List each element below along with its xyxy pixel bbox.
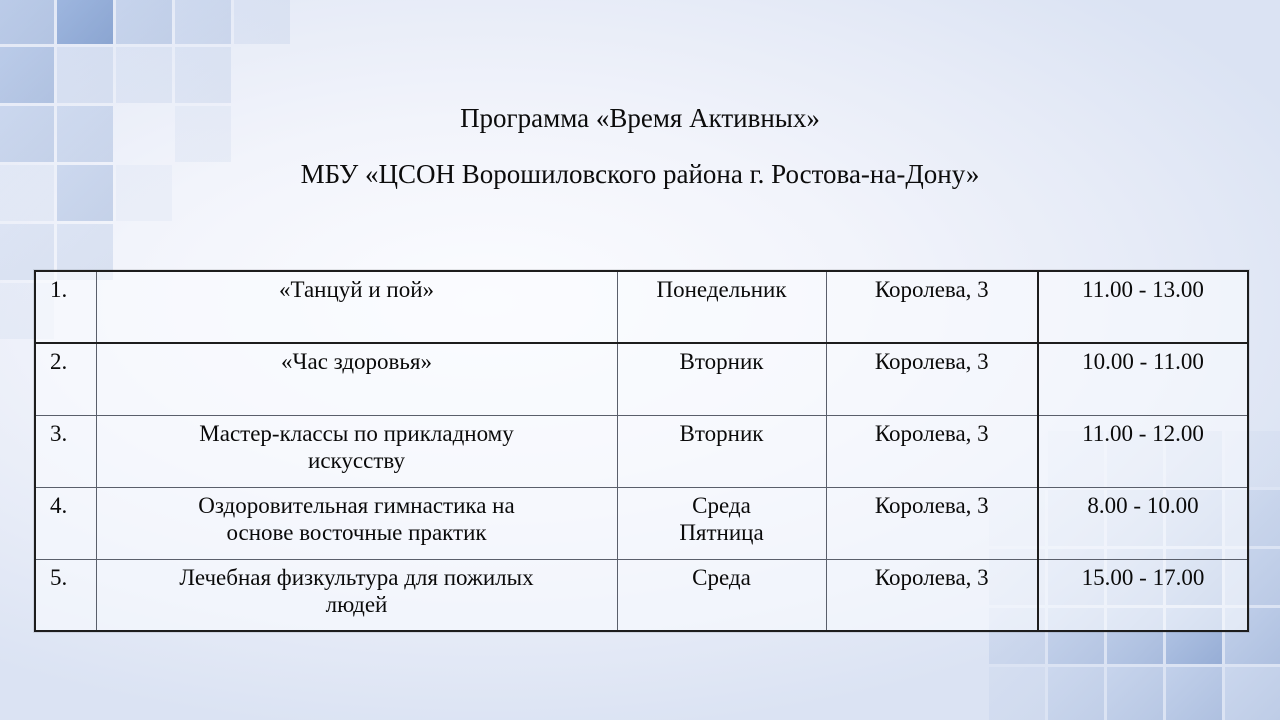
activity-name-cell: «Час здоровья» — [96, 343, 617, 415]
row-number-cell-line-1: 1. — [50, 276, 90, 304]
row-number-cell: 3. — [35, 415, 96, 487]
time-cell: 10.00 - 11.00 — [1038, 343, 1248, 415]
weekday-cell-line-1: Вторник — [624, 348, 820, 376]
address-cell-line-1: Королева, 3 — [833, 564, 1032, 592]
address-cell: Королева, 3 — [826, 559, 1038, 631]
row-number-cell-line-1: 2. — [50, 348, 90, 376]
activity-name-cell-line-1: Мастер-классы по прикладному — [103, 420, 611, 448]
weekday-cell: СредаПятница — [617, 487, 826, 559]
activity-name-cell: Оздоровительная гимнастика наоснове вост… — [96, 487, 617, 559]
weekday-cell-line-2: Пятница — [624, 519, 820, 547]
address-cell: Королева, 3 — [826, 487, 1038, 559]
address-cell: Королева, 3 — [826, 271, 1038, 343]
activity-name-cell: Мастер-классы по прикладномуискусству — [96, 415, 617, 487]
address-cell-line-1: Королева, 3 — [833, 420, 1032, 448]
activity-name-cell-line-1: Лечебная физкультура для пожилых — [103, 564, 611, 592]
weekday-cell: Вторник — [617, 415, 826, 487]
time-cell: 15.00 - 17.00 — [1038, 559, 1248, 631]
schedule-table: 1.«Танцуй и пой»ПонедельникКоролева, 311… — [34, 270, 1249, 632]
page-subtitle: МБУ «ЦСОН Ворошиловского района г. Росто… — [0, 159, 1280, 190]
address-cell: Королева, 3 — [826, 343, 1038, 415]
row-number-cell: 5. — [35, 559, 96, 631]
schedule-table-body: 1.«Танцуй и пой»ПонедельникКоролева, 311… — [35, 271, 1248, 631]
row-number-cell: 4. — [35, 487, 96, 559]
activity-name-cell-line-2: искусству — [103, 447, 611, 475]
time-cell: 11.00 - 13.00 — [1038, 271, 1248, 343]
table-row: 5.Лечебная физкультура для пожилыхлюдейС… — [35, 559, 1248, 631]
weekday-cell-line-1: Понедельник — [624, 276, 820, 304]
activity-name-cell: Лечебная физкультура для пожилыхлюдей — [96, 559, 617, 631]
time-cell: 8.00 - 10.00 — [1038, 487, 1248, 559]
address-cell-line-1: Королева, 3 — [833, 276, 1032, 304]
activity-name-cell-line-1: Оздоровительная гимнастика на — [103, 492, 611, 520]
address-cell-line-1: Королева, 3 — [833, 492, 1032, 520]
activity-name-cell-line-2: основе восточные практик — [103, 519, 611, 547]
address-cell-line-1: Королева, 3 — [833, 348, 1032, 376]
time-cell-line-1: 10.00 - 11.00 — [1045, 348, 1241, 376]
address-cell: Королева, 3 — [826, 415, 1038, 487]
table-row: 1.«Танцуй и пой»ПонедельникКоролева, 311… — [35, 271, 1248, 343]
table-row: 4.Оздоровительная гимнастика наоснове во… — [35, 487, 1248, 559]
weekday-cell: Среда — [617, 559, 826, 631]
weekday-cell-line-1: Вторник — [624, 420, 820, 448]
weekday-cell-line-1: Среда — [624, 492, 820, 520]
table-row: 3.Мастер-классы по прикладномуискусствуВ… — [35, 415, 1248, 487]
time-cell-line-1: 8.00 - 10.00 — [1045, 492, 1241, 520]
time-cell-line-1: 11.00 - 13.00 — [1045, 276, 1241, 304]
row-number-cell: 2. — [35, 343, 96, 415]
activity-name-cell-line-2: людей — [103, 591, 611, 619]
weekday-cell-line-1: Среда — [624, 564, 820, 592]
page-title: Программа «Время Активных» — [0, 103, 1280, 134]
activity-name-cell-line-1: «Час здоровья» — [103, 348, 611, 376]
weekday-cell: Вторник — [617, 343, 826, 415]
time-cell-line-1: 11.00 - 12.00 — [1045, 420, 1241, 448]
time-cell-line-1: 15.00 - 17.00 — [1045, 564, 1241, 592]
row-number-cell-line-1: 4. — [50, 492, 90, 520]
row-number-cell: 1. — [35, 271, 96, 343]
table-row: 2.«Час здоровья»ВторникКоролева, 310.00 … — [35, 343, 1248, 415]
activity-name-cell: «Танцуй и пой» — [96, 271, 617, 343]
weekday-cell: Понедельник — [617, 271, 826, 343]
time-cell: 11.00 - 12.00 — [1038, 415, 1248, 487]
activity-name-cell-line-1: «Танцуй и пой» — [103, 276, 611, 304]
row-number-cell-line-1: 3. — [50, 420, 90, 448]
presentation-slide: Программа «Время Активных» МБУ «ЦСОН Вор… — [0, 0, 1280, 720]
row-number-cell-line-1: 5. — [50, 564, 90, 592]
